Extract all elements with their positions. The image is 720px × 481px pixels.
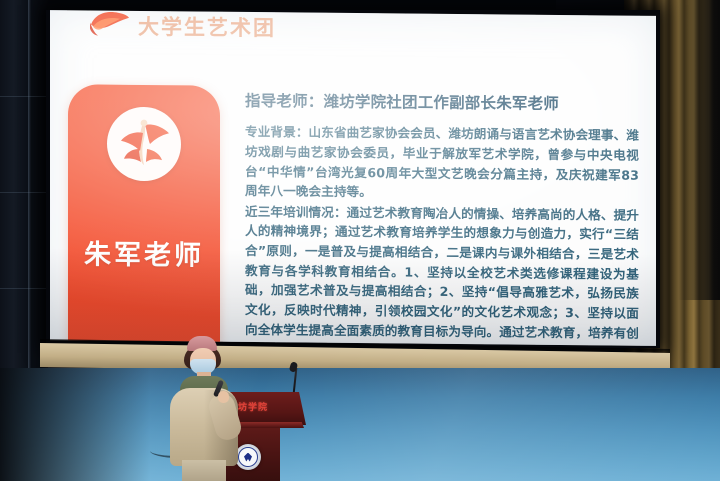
card-logo-circle: [107, 107, 181, 182]
slide-brand-text: 大学生艺术团: [138, 11, 276, 42]
slide-brand: 大学生艺术团: [88, 10, 276, 44]
presenter-hand: [218, 391, 229, 403]
wall-seam: [0, 288, 48, 289]
floor-left-shadow: [0, 368, 150, 481]
red-ribbon-circle-logo-icon: [113, 113, 175, 176]
card-name-label: 朱军老师: [68, 232, 220, 272]
wall-seam: [0, 192, 48, 193]
curtain-shadow: [678, 0, 720, 300]
presenter: [160, 336, 246, 481]
slide-paragraph-background: 专业背景：山东省曲艺家协会会员、潍坊朗诵与语言艺术协会理事、潍坊戏剧与曲艺家协会…: [245, 122, 639, 204]
projection-screen: 大学生艺术团 朱军老师 指导老师：潍坊学院社团工作副部长朱军老师 专业背景：山东…: [50, 10, 656, 346]
slide-title: 指导老师：潍坊学院社团工作副部长朱军老师: [245, 90, 639, 117]
presenter-lower-body: [182, 460, 226, 481]
wall-seam: [0, 96, 48, 97]
slide-paragraph-training: 近三年培训情况：通过艺术教育陶冶人的情操、培养高尚的人格、提升人的精神境界；通过…: [245, 202, 639, 346]
speaker-name-card: 朱军老师: [68, 84, 220, 346]
photo-scene: 大学生艺术团 朱军老师 指导老师：潍坊学院社团工作副部长朱军老师 专业背景：山东…: [0, 0, 720, 481]
red-flag-logo-icon: [88, 10, 130, 43]
slide-text-column: 指导老师：潍坊学院社团工作副部长朱军老师 专业背景：山东省曲艺家协会会员、潍坊朗…: [245, 90, 639, 346]
